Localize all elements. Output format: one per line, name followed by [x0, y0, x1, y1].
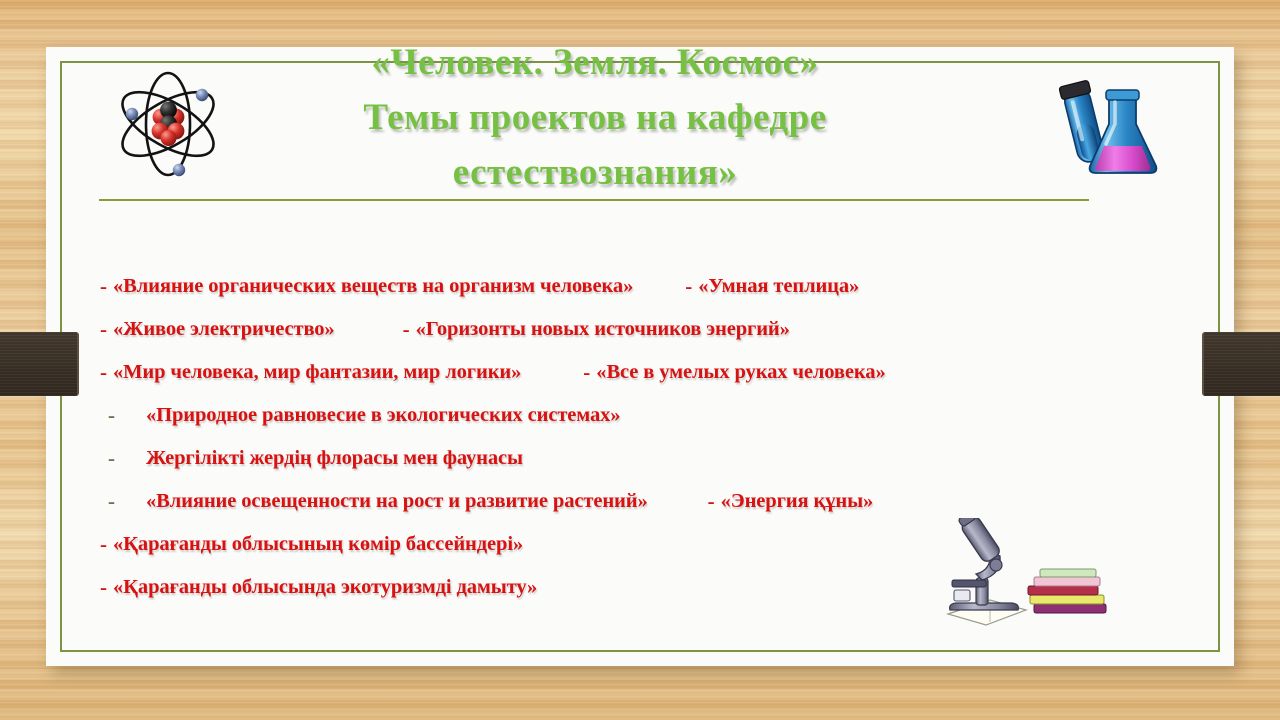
- list-item-label-secondary: «Горизонты новых источников энергий»: [416, 318, 790, 341]
- right-decorative-bar: [1202, 332, 1280, 396]
- list-item: - Жергілікті жердің флорасы мен фаунасы: [100, 437, 1160, 480]
- list-item-label: «Влияние освещенности на рост и развитие…: [146, 490, 648, 513]
- list-item-label: «Влияние органических веществ на организ…: [113, 275, 633, 298]
- left-decorative-bar: [0, 332, 79, 396]
- list-item-label: «Природное равновесие в экологических си…: [146, 404, 620, 427]
- flasks-icon: [1046, 74, 1162, 178]
- bullet-marker: -: [100, 532, 107, 557]
- list-item-label: «Қарағанды облысының көмір бассейндері»: [113, 533, 523, 556]
- title-line-2: Темы проектов на кафедре: [100, 90, 1090, 145]
- bullet-marker-secondary: -: [583, 360, 590, 385]
- list-item-label: Жергілікті жердің флорасы мен фаунасы: [146, 447, 523, 470]
- list-item-label: «Живое электричество»: [113, 318, 335, 341]
- list-item: - «Влияние органических веществ на орган…: [100, 265, 1160, 308]
- bullet-marker-secondary: -: [685, 274, 692, 299]
- list-item-label: «Қарағанды облысында экотуризмді дамыту»: [113, 576, 537, 599]
- list-item: - «Влияние освещенности на рост и развит…: [100, 480, 1160, 523]
- bullet-marker: -: [100, 489, 140, 514]
- list-item-label-secondary: «Умная теплица»: [698, 275, 859, 298]
- bullet-marker: -: [100, 575, 107, 600]
- list-item: - «Живое электричество» - «Горизонты нов…: [100, 308, 1160, 351]
- bullet-marker: -: [100, 403, 140, 428]
- bullet-marker: -: [100, 360, 107, 385]
- bullet-marker-secondary: -: [403, 317, 410, 342]
- list-item-label-secondary: «Все в умелых руках человека»: [596, 361, 885, 384]
- bullet-marker: -: [100, 317, 107, 342]
- title-line-3: естествознания»: [100, 145, 1090, 200]
- page-title: «Человек. Земля. Космос» Темы проектов н…: [100, 35, 1090, 200]
- list-item-label-secondary: «Энергия құны»: [721, 490, 874, 513]
- list-item: - «Природное равновесие в экологических …: [100, 394, 1160, 437]
- list-item-label: «Мир человека, мир фантазии, мир логики»: [113, 361, 521, 384]
- bullet-marker: -: [100, 274, 107, 299]
- list-item: - «Мир человека, мир фантазии, мир логик…: [100, 351, 1160, 394]
- microscope-icon: [930, 518, 1108, 630]
- atom-icon: [104, 62, 232, 186]
- bullet-marker: -: [100, 446, 140, 471]
- title-line-1: «Человек. Земля. Космос»: [100, 35, 1090, 90]
- bullet-marker-secondary: -: [708, 489, 715, 514]
